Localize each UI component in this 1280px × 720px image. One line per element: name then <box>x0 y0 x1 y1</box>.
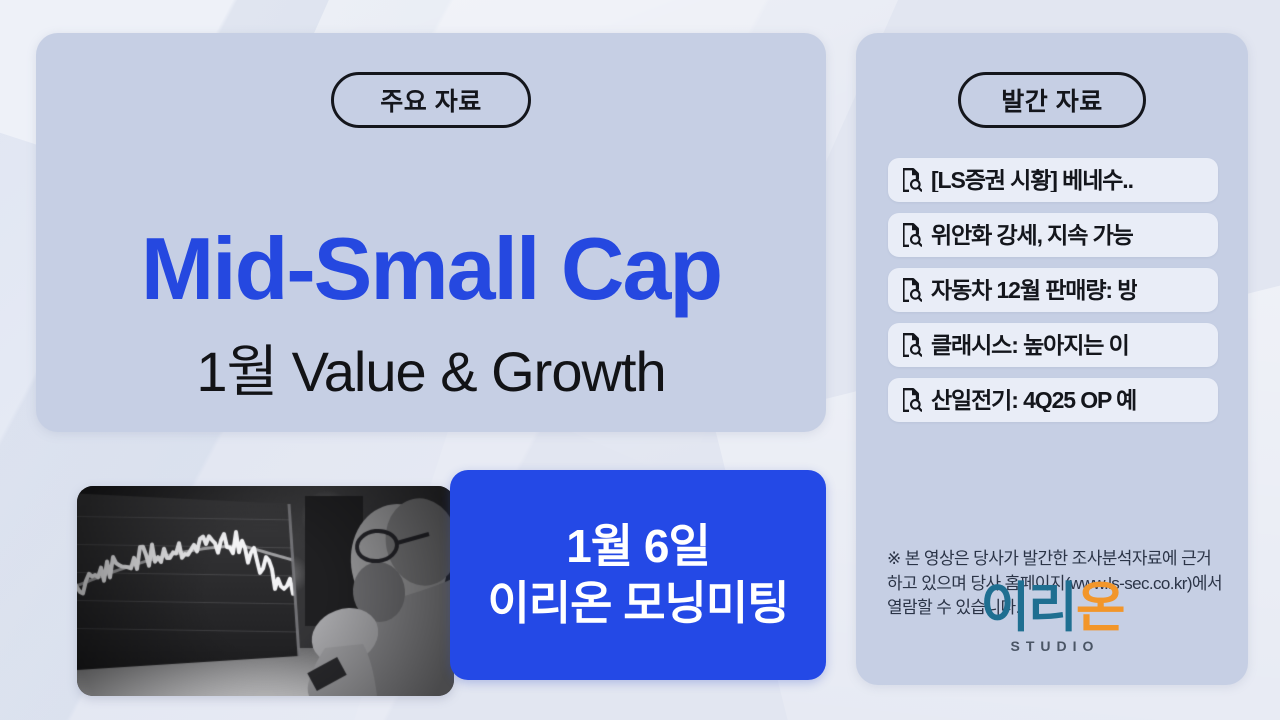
date-line-secondary: 이리온 모닝미팅 <box>487 578 788 629</box>
publication-item-label: 자동차 12월 판매량: 방 <box>931 279 1137 302</box>
brand-subtitle: STUDIO <box>1005 639 1100 653</box>
publication-item-label: 위안화 강세, 지속 가능 <box>931 224 1133 247</box>
hero-panel: 주요 자료 Mid-Small Cap 1월 Value & Growth <box>36 33 826 432</box>
publication-item[interactable]: 위안화 강세, 지속 가능 <box>888 213 1218 257</box>
document-search-icon <box>901 278 922 302</box>
document-search-icon <box>901 388 922 412</box>
publications-badge: 발간 자료 <box>958 72 1146 128</box>
slide-canvas: 주요 자료 Mid-Small Cap 1월 Value & Growth 1월… <box>0 0 1280 720</box>
publication-item[interactable]: 자동차 12월 판매량: 방 <box>888 268 1218 312</box>
brand-wordmark: 이리온 <box>980 581 1123 635</box>
publications-list: [LS증권 시황] 베네수..위안화 강세, 지속 가능자동차 12월 판매량:… <box>888 158 1218 422</box>
page-title: Mid-Small Cap <box>36 225 826 313</box>
page-subtitle: 1월 Value & Growth <box>36 344 826 400</box>
publication-item-label: [LS증권 시황] 베네수.. <box>931 169 1133 192</box>
date-card: 1월 6일 이리온 모닝미팅 <box>450 470 826 680</box>
publication-item[interactable]: [LS증권 시황] 베네수.. <box>888 158 1218 202</box>
document-search-icon <box>901 223 922 247</box>
publication-item[interactable]: 산일전기: 4Q25 OP 예 <box>888 378 1218 422</box>
hero-badge: 주요 자료 <box>331 72 531 128</box>
document-search-icon <box>901 333 922 357</box>
brand-wordmark-part-a: 이리 <box>980 578 1075 638</box>
analyst-photo-card <box>77 486 454 696</box>
date-line-primary: 1월 6일 <box>566 521 710 572</box>
publications-panel: 발간 자료 [LS증권 시황] 베네수..위안화 강세, 지속 가능자동차 12… <box>856 33 1248 685</box>
publication-item[interactable]: 클래시스: 높아지는 이 <box>888 323 1218 367</box>
stock-chart-monitor-photo <box>77 486 454 696</box>
publication-item-label: 클래시스: 높아지는 이 <box>931 334 1129 357</box>
brand-wordmark-part-b: 온 <box>1076 578 1124 638</box>
publication-item-label: 산일전기: 4Q25 OP 예 <box>931 389 1136 412</box>
brand-logo: 이리온 STUDIO <box>856 581 1248 653</box>
document-search-icon <box>901 168 922 192</box>
